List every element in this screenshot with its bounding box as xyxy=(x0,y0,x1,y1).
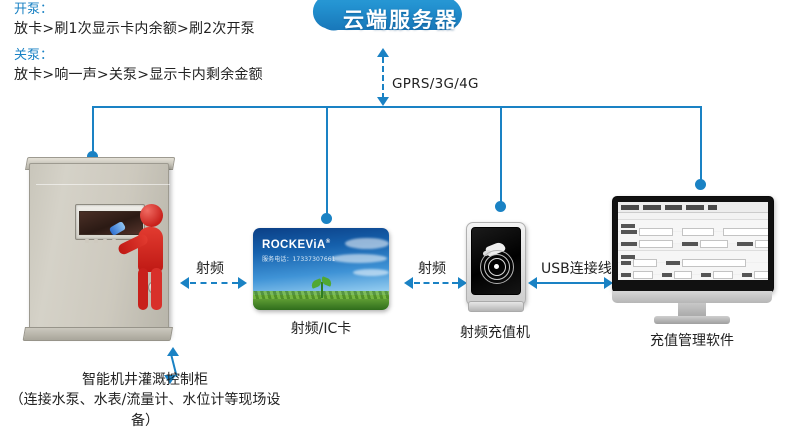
monitor-chin xyxy=(612,291,772,303)
rf-recharge-reader[interactable] xyxy=(466,222,524,314)
app-form-row-1 xyxy=(618,220,768,232)
instructions-spacer xyxy=(14,39,314,46)
gprs-dashed-line xyxy=(382,57,384,99)
app-menu-bar[interactable] xyxy=(618,202,768,213)
monitor-bezel xyxy=(612,196,774,293)
cabinet-caption-arrow-up xyxy=(167,347,179,356)
operator-leg-left xyxy=(138,268,148,310)
rf-left-arrow-head-left xyxy=(180,277,189,289)
app-form-row-5 xyxy=(618,275,768,280)
rf-right-arrow-head-left xyxy=(404,277,413,289)
irrigation-control-cabinet[interactable] xyxy=(25,157,175,344)
app-form-row-4 xyxy=(618,263,768,275)
reader-stand xyxy=(468,301,524,312)
operator-head xyxy=(140,204,163,227)
cabinet-caption-main: 智能机井灌溉控制柜 xyxy=(0,370,290,390)
card-brand-name: ROCKEViA xyxy=(262,239,326,251)
usb-link-label: USB连接线 xyxy=(541,258,612,278)
gprs-arrow-up xyxy=(377,48,389,57)
gprs-link-label: GPRS/3G/4G xyxy=(392,76,479,92)
cloud-server-node: 云端服务器 xyxy=(287,0,514,62)
card-caption: 射频/IC卡 xyxy=(253,318,389,338)
rf-left-dashed-line xyxy=(190,282,238,284)
card-cloud-wisp-1 xyxy=(345,238,389,249)
recharge-management-software-monitor[interactable] xyxy=(612,196,772,314)
cloud-server-label: 云端服务器 xyxy=(287,4,514,34)
rf-ic-card[interactable]: ROCKEViA® 服务电话：17337307661 xyxy=(253,228,389,310)
cabinet-base-panel xyxy=(23,327,173,341)
rfid-wave-icon xyxy=(480,244,512,278)
reader-panel xyxy=(471,227,521,295)
rfid-core-dot xyxy=(494,264,499,269)
bus-dot-reader xyxy=(495,201,506,212)
rf-right-dashed-line xyxy=(414,282,458,284)
cabinet-caption-sub: （连接水泵、水表/流量计、水位计等现场设备） xyxy=(0,390,290,432)
operating-instructions: 开泵： 放卡>刷1次显示卡内余额>刷2次开泵 关泵： 放卡>响一声>关泵>显示卡… xyxy=(14,0,314,85)
card-brand-text: ROCKEViA® xyxy=(262,239,331,251)
bus-horizontal-line xyxy=(92,106,702,108)
monitor-screen xyxy=(618,202,768,280)
rf-left-label: 射频 xyxy=(196,258,224,278)
monitor-base xyxy=(654,316,730,324)
bus-dot-card xyxy=(321,213,332,224)
card-service-phone: 服务电话：17337307661 xyxy=(262,254,336,263)
card-brand-mark: ® xyxy=(326,239,331,245)
rf-right-label: 射频 xyxy=(418,258,446,278)
card-sprout-icon xyxy=(313,276,331,298)
bus-dot-monitor xyxy=(695,179,706,190)
cabinet-caption: 智能机井灌溉控制柜 （连接水泵、水表/流量计、水位计等现场设备） xyxy=(0,370,290,432)
diagram-canvas: 开泵： 放卡>刷1次显示卡内余额>刷2次开泵 关泵： 放卡>响一声>关泵>显示卡… xyxy=(0,0,790,427)
monitor-neck xyxy=(678,303,706,317)
rf-left-arrow-head-right xyxy=(238,277,247,289)
gprs-arrow-down xyxy=(377,97,389,106)
bus-drop-card xyxy=(326,106,328,218)
operator-figure-icon xyxy=(123,204,175,309)
monitor-caption: 充值管理软件 xyxy=(612,330,772,350)
cabinet-seam xyxy=(36,184,170,185)
bus-drop-cabinet xyxy=(92,106,94,156)
app-form-row-2 xyxy=(618,232,768,244)
usb-line xyxy=(537,282,605,284)
operator-leg-right xyxy=(151,268,162,310)
bus-drop-monitor xyxy=(700,106,702,184)
cabinet-body xyxy=(29,163,169,335)
reader-caption: 射频充值机 xyxy=(440,322,550,342)
sprout-stem xyxy=(321,282,323,298)
pump-on-steps: 放卡>刷1次显示卡内余额>刷2次开泵 xyxy=(14,19,314,39)
reader-shell xyxy=(466,222,526,306)
card-cloud-wisp-3 xyxy=(353,269,389,276)
card-cloud-wisp-2 xyxy=(331,254,387,263)
app-section-header-1 xyxy=(618,213,768,220)
usb-arrow-head-left xyxy=(528,277,537,289)
pump-on-title: 开泵： xyxy=(14,0,314,19)
pump-off-title: 关泵： xyxy=(14,46,314,65)
pump-off-steps: 放卡>响一声>关泵>显示卡内剩余金额 xyxy=(14,65,314,85)
app-form-row-3 xyxy=(618,251,768,263)
bus-drop-reader xyxy=(500,106,502,206)
card-face: ROCKEViA® 服务电话：17337307661 xyxy=(253,228,389,310)
